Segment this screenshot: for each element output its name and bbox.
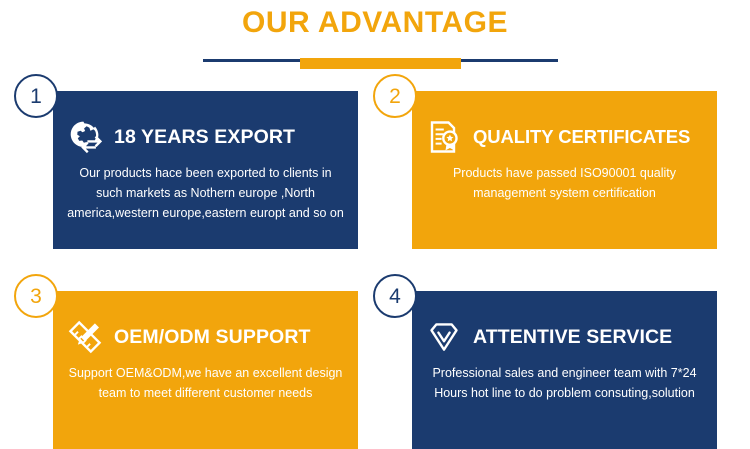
card-number-badge: 1 [14,74,58,118]
globe-exchange-icon [65,117,105,157]
card-header: OEM/ODM SUPPORT [53,315,358,359]
card-number-badge: 3 [14,274,58,318]
title-divider [203,56,558,70]
advantage-cards: 1 18 YEARS EXPORT Our products hace been… [0,85,750,445]
card-description: Support OEM&ODM,we have an excellent des… [65,363,346,403]
card-description: Products have passed ISO90001 quality ma… [424,163,705,203]
card-description: Professional sales and engineer team wit… [424,363,705,403]
card-title: OEM/ODM SUPPORT [114,326,311,349]
header: OUR ADVANTAGE [0,0,750,78]
certificate-icon [424,117,464,157]
card-title: ATTENTIVE SERVICE [473,326,672,349]
advantage-card-2[interactable]: 2 QUALITY CERTIFICATES Products have pas… [412,91,717,249]
card-header: ATTENTIVE SERVICE [412,315,717,359]
card-number-badge: 2 [373,74,417,118]
advantage-card-3[interactable]: 3 OEM/ODM SUPPORT Su [53,291,358,449]
card-title: 18 YEARS EXPORT [114,126,295,149]
pencil-ruler-icon [65,317,105,357]
card-title: QUALITY CERTIFICATES [473,126,690,148]
advantage-infographic: OUR ADVANTAGE 1 18 YEARS EXPORT [0,0,750,445]
card-description: Our products hace been exported to clien… [65,163,346,223]
trapezoid-divider-icon [300,58,328,69]
card-header: QUALITY CERTIFICATES [412,115,717,159]
advantage-card-4[interactable]: 4 ATTENTIVE SERVICE Professional sales a… [412,291,717,449]
card-number-badge: 4 [373,274,417,318]
page-title: OUR ADVANTAGE [0,4,750,42]
card-header: 18 YEARS EXPORT [53,115,358,159]
shield-check-icon [424,317,464,357]
advantage-card-1[interactable]: 1 18 YEARS EXPORT Our products hace been… [53,91,358,249]
